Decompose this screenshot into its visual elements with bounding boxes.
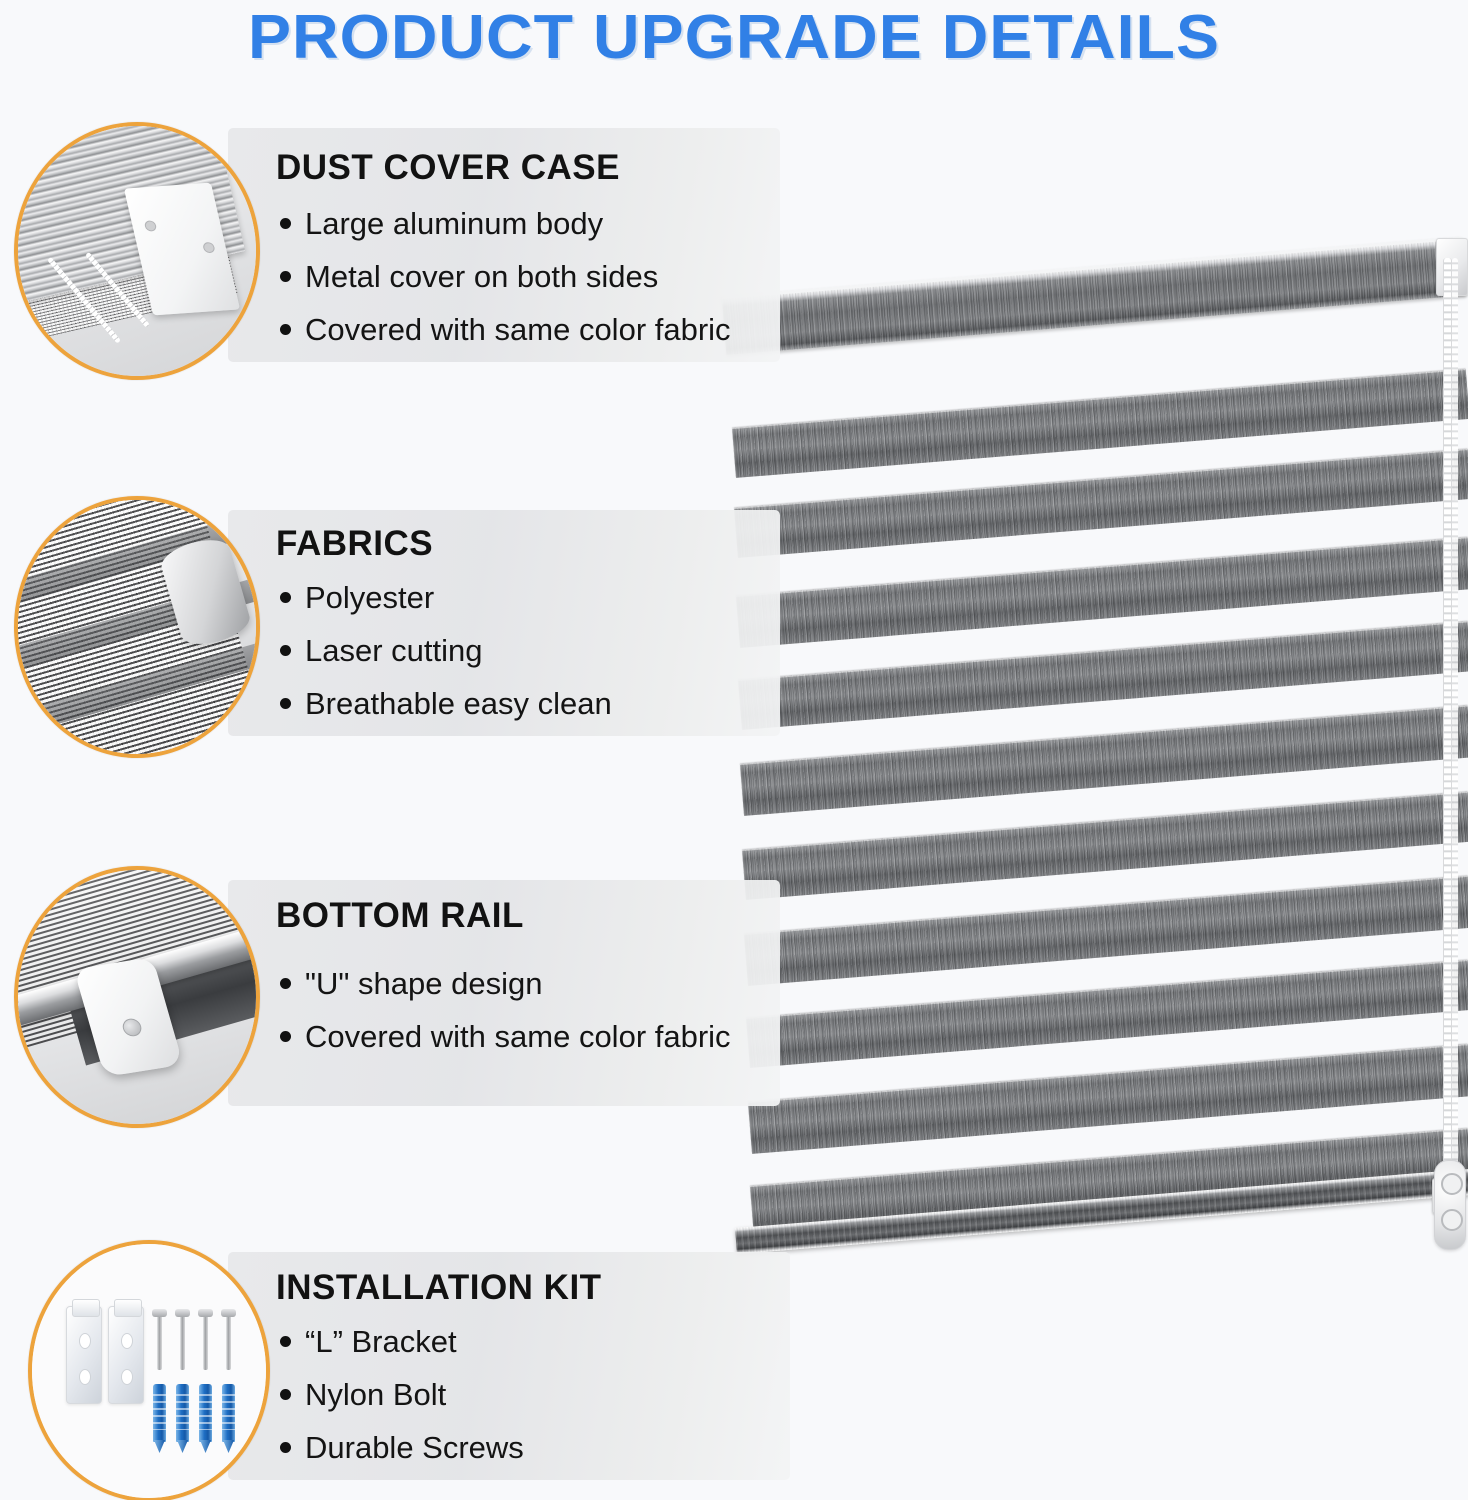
bullet-dot-icon <box>280 1031 291 1042</box>
l-bracket-icon <box>108 1306 144 1404</box>
bullet-item: Covered with same color fabric <box>280 312 731 348</box>
chain-tensioner[interactable] <box>1434 1160 1466 1250</box>
screw-icon <box>121 1018 144 1038</box>
bead-chain[interactable] <box>1443 258 1452 1248</box>
bullet-list-bottom-rail: "U" shape design Covered with same color… <box>280 966 731 1072</box>
bullet-text: Metal cover on both sides <box>305 259 658 295</box>
bullet-text: Breathable easy clean <box>305 686 612 722</box>
bullet-item: Metal cover on both sides <box>280 259 731 295</box>
blind-headrail <box>722 237 1466 355</box>
bullet-dot-icon <box>280 698 291 709</box>
screw-icon <box>203 1314 208 1370</box>
bullet-text: Nylon Bolt <box>305 1377 446 1413</box>
bullet-text: Covered with same color fabric <box>305 312 731 348</box>
bullet-dot-icon <box>280 324 291 335</box>
photo-circle-installation-kit <box>28 1240 270 1500</box>
bullet-text: Laser cutting <box>305 633 483 669</box>
bullet-item: Large aluminum body <box>280 206 731 242</box>
bullet-dot-icon <box>280 1389 291 1400</box>
bullet-list-installation-kit: “L” Bracket Nylon Bolt Durable Screws <box>280 1324 524 1483</box>
bullet-item: Laser cutting <box>280 633 612 669</box>
product-image-zebra-roller-blind <box>716 228 1468 1288</box>
section-heading-dust-cover-case: DUST COVER CASE <box>276 148 620 188</box>
bullet-dot-icon <box>280 978 291 989</box>
bullet-text: “L” Bracket <box>305 1324 457 1360</box>
bullet-item: Durable Screws <box>280 1430 524 1466</box>
nylon-bolt-icon <box>199 1384 212 1442</box>
bullet-text: Durable Screws <box>305 1430 524 1466</box>
bullet-dot-icon <box>280 271 291 282</box>
page-title: PRODUCT UPGRADE DETAILS <box>0 2 1468 73</box>
bullet-item: Polyester <box>280 580 612 616</box>
infographic-canvas: PRODUCT UPGRADE DETAILS <box>0 0 1468 1500</box>
bullet-item: “L” Bracket <box>280 1324 524 1360</box>
bullet-text: Polyester <box>305 580 434 616</box>
bullet-item: Covered with same color fabric <box>280 1019 731 1055</box>
section-heading-bottom-rail: BOTTOM RAIL <box>276 896 524 936</box>
bullet-text: "U" shape design <box>305 966 542 1002</box>
bullet-dot-icon <box>280 218 291 229</box>
photo-circle-fabrics <box>14 496 260 758</box>
screw-icon <box>180 1314 185 1370</box>
blind-slat <box>740 706 1468 816</box>
bullet-item: "U" shape design <box>280 966 731 1002</box>
bead-chain-loop[interactable] <box>1452 258 1458 1218</box>
nylon-bolt-icon <box>222 1384 235 1442</box>
section-heading-installation-kit: INSTALLATION KIT <box>276 1268 602 1308</box>
l-bracket-icon <box>66 1306 102 1404</box>
nylon-bolt-icon <box>153 1384 166 1442</box>
nylon-bolt-icon <box>176 1384 189 1442</box>
bullet-dot-icon <box>280 1336 291 1347</box>
photo-circle-bottom-rail <box>14 866 260 1128</box>
bullet-text: Large aluminum body <box>305 206 603 242</box>
bullet-list-fabrics: Polyester Laser cutting Breathable easy … <box>280 580 612 739</box>
bullet-list-dust-cover-case: Large aluminum body Metal cover on both … <box>280 206 731 365</box>
bullet-item: Breathable easy clean <box>280 686 612 722</box>
section-heading-fabrics: FABRICS <box>276 524 433 564</box>
bullet-dot-icon <box>280 645 291 656</box>
bullet-text: Covered with same color fabric <box>305 1019 731 1055</box>
screw-icon <box>157 1314 162 1370</box>
bullet-dot-icon <box>280 1442 291 1453</box>
photo-circle-dust-cover-case <box>14 122 260 380</box>
screw-icon <box>226 1314 231 1370</box>
bullet-dot-icon <box>280 592 291 603</box>
bullet-item: Nylon Bolt <box>280 1377 524 1413</box>
